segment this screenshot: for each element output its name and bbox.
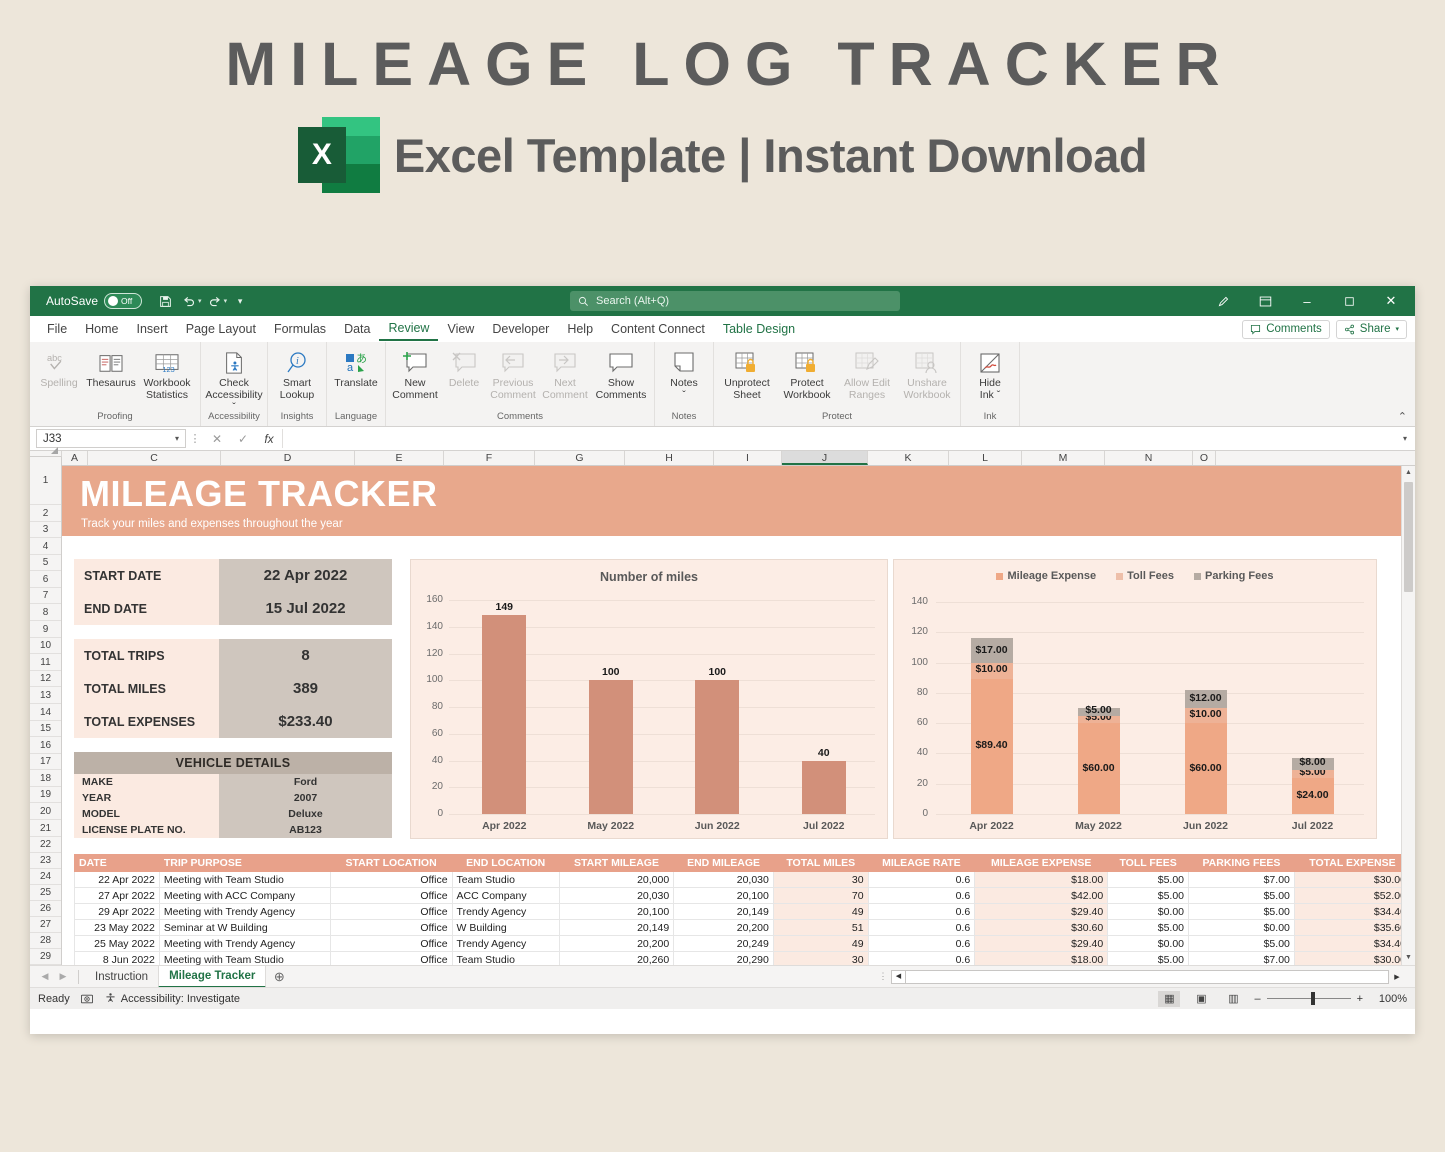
table-row[interactable]: 23 May 2022Seminar at W BuildingOfficeW … bbox=[75, 920, 1411, 936]
table-cell[interactable]: $5.00 bbox=[1108, 872, 1189, 888]
tab-home[interactable]: Home bbox=[76, 319, 127, 340]
accessibility-icon bbox=[104, 992, 117, 1005]
sheet-tab-instruction[interactable]: Instruction bbox=[85, 969, 158, 985]
save-icon[interactable] bbox=[154, 290, 176, 312]
table-cell[interactable]: $29.40 bbox=[975, 936, 1108, 952]
row-header-20[interactable]: 20 bbox=[30, 803, 61, 820]
ribbon-group-proofing: abc Spelling Thesaurus 123 Workbook Stat… bbox=[30, 342, 201, 426]
ribbon-group-comments: New Comment Delete Previous Comment bbox=[386, 342, 655, 426]
row-header-4[interactable]: 4 bbox=[30, 538, 61, 555]
formula-bar: J33 ▾ ⋮ ✕ ✓ fx ▾ bbox=[30, 427, 1415, 451]
table-header-toll-fees[interactable]: TOLL FEES bbox=[1108, 855, 1189, 872]
chart2-datalabel-Jun 2022-mileage-expense: $60.00 bbox=[1176, 762, 1236, 774]
table-cell[interactable]: Meeting with ACC Company bbox=[159, 888, 330, 904]
table-row[interactable]: 8 Jun 2022Meeting with Team StudioOffice… bbox=[75, 952, 1411, 966]
check-accessibility-icon bbox=[222, 348, 246, 378]
scroll-right-arrow[interactable]: ▶ bbox=[1389, 973, 1405, 981]
sheet-tab-bar: ◀ ▶ Instruction Mileage Tracker ⊕ ⋮ ◀ ▶ bbox=[30, 965, 1415, 987]
column-header-O[interactable]: O bbox=[1193, 451, 1216, 465]
table-cell[interactable]: 70 bbox=[773, 888, 868, 904]
vehicle-model-label: MODEL bbox=[74, 806, 219, 822]
allow-edit-ranges-button[interactable]: Allow Edit Ranges bbox=[837, 344, 897, 402]
chart2-xlabel-May 2022: May 2022 bbox=[1054, 820, 1144, 832]
table-cell[interactable]: 20,030 bbox=[674, 872, 774, 888]
next-comment-label-1: Next bbox=[554, 378, 576, 390]
column-header-I[interactable]: I bbox=[714, 451, 782, 465]
table-cell[interactable]: $7.00 bbox=[1189, 952, 1295, 966]
total-expenses-label: TOTAL EXPENSES bbox=[74, 705, 219, 738]
column-headers: ACDEFGHIJKLMNO bbox=[62, 451, 1415, 466]
redo-icon[interactable] bbox=[204, 290, 226, 312]
translate-button[interactable]: aあ Translate bbox=[330, 344, 382, 390]
table-cell[interactable]: 20,149 bbox=[674, 904, 774, 920]
table-cell[interactable]: 27 Apr 2022 bbox=[75, 888, 160, 904]
table-row[interactable]: 25 May 2022Meeting with Trendy AgencyOff… bbox=[75, 936, 1411, 952]
table-cell[interactable]: $52.00 bbox=[1294, 888, 1410, 904]
table-cell[interactable]: Team Studio bbox=[452, 872, 559, 888]
table-cell[interactable]: $30.60 bbox=[975, 920, 1108, 936]
table-cell[interactable]: 20,149 bbox=[559, 920, 673, 936]
table-header-end-location[interactable]: END LOCATION bbox=[452, 855, 559, 872]
table-cell[interactable]: Meeting with Trendy Agency bbox=[159, 904, 330, 920]
tab-insert[interactable]: Insert bbox=[128, 319, 177, 340]
total-trips-value: 8 bbox=[219, 639, 392, 672]
confirm-entry-button[interactable]: ✓ bbox=[230, 432, 256, 446]
table-header-total-miles[interactable]: TOTAL MILES bbox=[773, 855, 868, 872]
row-header-15[interactable]: 15 bbox=[30, 721, 61, 737]
chart1-bar-May 2022[interactable] bbox=[589, 680, 633, 814]
check-accessibility-label-2: Accessibility ˇ bbox=[204, 390, 264, 414]
row-header-22[interactable]: 22 bbox=[30, 837, 61, 853]
table-cell[interactable]: $29.40 bbox=[975, 904, 1108, 920]
next-comment-icon bbox=[551, 348, 579, 378]
undo-icon[interactable] bbox=[178, 290, 200, 312]
table-cell[interactable]: 25 May 2022 bbox=[75, 936, 160, 952]
autosave-label: AutoSave bbox=[46, 294, 98, 308]
group-label-protect: Protect bbox=[717, 411, 957, 422]
ribbon-group-ink: Hide Ink ˇ Ink bbox=[961, 342, 1020, 426]
table-cell[interactable]: 20,100 bbox=[559, 904, 673, 920]
autosave-toggle[interactable]: AutoSave Off bbox=[46, 293, 142, 309]
row-header-1[interactable]: 1 bbox=[30, 457, 61, 505]
group-label-accessibility: Accessibility bbox=[204, 411, 264, 422]
row-header-27[interactable]: 27 bbox=[30, 917, 61, 933]
tab-help[interactable]: Help bbox=[558, 319, 602, 340]
chart2-ytick-40: 40 bbox=[902, 747, 928, 758]
vehicle-make-value[interactable]: Ford bbox=[219, 774, 392, 790]
check-accessibility-label-1: Check bbox=[219, 378, 249, 390]
previous-comment-button[interactable]: Previous Comment bbox=[487, 344, 539, 402]
table-cell[interactable]: Meeting with Team Studio bbox=[159, 952, 330, 966]
table-cell[interactable]: 20,030 bbox=[559, 888, 673, 904]
allow-edit-ranges-label-1: Allow Edit bbox=[844, 378, 890, 390]
select-all-corner[interactable] bbox=[30, 451, 62, 457]
cancel-entry-button[interactable]: ✕ bbox=[204, 432, 230, 446]
autosave-switch[interactable]: Off bbox=[104, 293, 142, 309]
share-button[interactable]: Share ▾ bbox=[1336, 320, 1407, 339]
promo-header: MILEAGE LOG TRACKER X Excel Template | I… bbox=[0, 0, 1445, 193]
search-box[interactable]: Search (Alt+Q) bbox=[570, 291, 900, 311]
chart1-ytick-60: 60 bbox=[417, 728, 443, 739]
scrollbar-split-handle[interactable]: ⋮ bbox=[875, 971, 891, 982]
table-cell[interactable]: $35.60 bbox=[1294, 920, 1410, 936]
sheet-banner-subtitle: Track your miles and expenses throughout… bbox=[62, 514, 1415, 530]
horizontal-scroll-track[interactable]: ◀ bbox=[891, 970, 1389, 984]
workbook-statistics-button[interactable]: 123 Workbook Statistics bbox=[137, 344, 197, 402]
row-header-25[interactable]: 25 bbox=[30, 885, 61, 901]
group-label-proofing: Proofing bbox=[33, 411, 197, 422]
chart1-datalabel-Jul 2022: 40 bbox=[799, 747, 849, 759]
column-header-M[interactable]: M bbox=[1022, 451, 1105, 465]
row-header-10[interactable]: 10 bbox=[30, 638, 61, 654]
name-box-value: J33 bbox=[43, 433, 62, 445]
sheet-tab-mileage-tracker[interactable]: Mileage Tracker bbox=[158, 966, 266, 988]
table-row[interactable]: 27 Apr 2022Meeting with ACC CompanyOffic… bbox=[75, 888, 1411, 904]
tab-developer[interactable]: Developer bbox=[483, 319, 558, 340]
table-row[interactable]: 29 Apr 2022Meeting with Trendy AgencyOff… bbox=[75, 904, 1411, 920]
hide-ink-label-2[interactable]: Ink ˇ bbox=[980, 390, 1000, 402]
smart-lookup-button[interactable]: i Smart Lookup bbox=[271, 344, 323, 402]
delete-comment-label: Delete bbox=[449, 378, 479, 390]
tab-view[interactable]: View bbox=[438, 319, 483, 340]
promo-title: MILEAGE LOG TRACKER bbox=[0, 34, 1445, 95]
table-cell[interactable]: 20,200 bbox=[674, 920, 774, 936]
table-cell[interactable]: 0.6 bbox=[868, 904, 975, 920]
table-cell[interactable]: $0.00 bbox=[1108, 936, 1189, 952]
table-cell[interactable]: 0.6 bbox=[868, 936, 975, 952]
table-cell[interactable]: 49 bbox=[773, 904, 868, 920]
chart1-bar-Jun 2022[interactable] bbox=[695, 680, 739, 814]
row-header-23[interactable]: 23 bbox=[30, 853, 61, 869]
chart1-ytick-80: 80 bbox=[417, 701, 443, 712]
row-header-28[interactable]: 28 bbox=[30, 933, 61, 949]
table-cell[interactable]: Office bbox=[330, 920, 452, 936]
row-header-14[interactable]: 14 bbox=[30, 704, 61, 721]
table-cell[interactable]: 20,290 bbox=[674, 952, 774, 966]
zoom-in-button[interactable]: + bbox=[1357, 993, 1363, 1005]
protect-workbook-button[interactable]: Protect Workbook bbox=[777, 344, 837, 402]
table-cell[interactable]: $0.00 bbox=[1189, 920, 1295, 936]
column-header-K[interactable]: K bbox=[868, 451, 949, 465]
search-icon bbox=[578, 296, 589, 307]
table-cell[interactable]: 0.6 bbox=[868, 872, 975, 888]
table-header-mileage-expense[interactable]: MILEAGE EXPENSE bbox=[975, 855, 1108, 872]
hide-ink-button[interactable]: Hide Ink ˇ bbox=[964, 344, 1016, 402]
ribbon-group-insights: i Smart Lookup Insights bbox=[268, 342, 327, 426]
mileage-log-table[interactable]: DATETRIP PURPOSESTART LOCATIONEND LOCATI… bbox=[74, 854, 1411, 965]
table-cell[interactable]: 29 Apr 2022 bbox=[75, 904, 160, 920]
chart-expenses-breakdown[interactable]: Mileage Expense Toll Fees Parking Fees 0… bbox=[893, 559, 1377, 839]
chart2-xlabel-Apr 2022: Apr 2022 bbox=[947, 820, 1037, 832]
delete-comment-button[interactable]: Delete bbox=[441, 344, 487, 390]
table-cell[interactable]: Office bbox=[330, 872, 452, 888]
previous-sheet-arrow[interactable]: ◀ bbox=[36, 971, 54, 982]
table-cell[interactable]: 20,000 bbox=[559, 872, 673, 888]
group-label-ink: Ink bbox=[964, 411, 1016, 422]
table-header-trip-purpose[interactable]: TRIP PURPOSE bbox=[159, 855, 330, 872]
table-cell[interactable]: Seminar at W Building bbox=[159, 920, 330, 936]
table-cell[interactable]: 20,200 bbox=[559, 936, 673, 952]
protect-workbook-label-1: Protect bbox=[790, 378, 823, 390]
column-header-G[interactable]: G bbox=[535, 451, 625, 465]
table-cell[interactable]: $30.00 bbox=[1294, 872, 1410, 888]
normal-view-button[interactable]: ▦ bbox=[1158, 991, 1180, 1007]
minimize-button[interactable]: – bbox=[1287, 287, 1327, 315]
table-cell[interactable]: Meeting with Trendy Agency bbox=[159, 936, 330, 952]
tab-file[interactable]: File bbox=[38, 319, 76, 340]
table-cell[interactable]: 0.6 bbox=[868, 888, 975, 904]
undo-dropdown-caret[interactable]: ▾ bbox=[198, 297, 202, 305]
collapse-ribbon-button[interactable]: ⌃ bbox=[1398, 410, 1407, 423]
protect-workbook-label-2: Workbook bbox=[783, 390, 830, 402]
column-header-D[interactable]: D bbox=[221, 451, 355, 465]
table-cell[interactable]: 20,260 bbox=[559, 952, 673, 966]
table-header-start-location[interactable]: START LOCATION bbox=[330, 855, 452, 872]
zoom-level-label[interactable]: 100% bbox=[1373, 993, 1407, 1005]
table-cell[interactable]: Office bbox=[330, 952, 452, 966]
chart2-plot: 020406080100120140$89.40$10.00$17.00Apr … bbox=[894, 560, 1376, 838]
chart2-ytick-100: 100 bbox=[902, 657, 928, 668]
group-label-notes: Notes bbox=[658, 411, 710, 422]
table-header-parking-fees[interactable]: PARKING FEES bbox=[1189, 855, 1295, 872]
table-cell[interactable]: $18.00 bbox=[975, 872, 1108, 888]
notes-button[interactable]: Notes ˇ bbox=[658, 344, 710, 402]
vertical-scrollbar[interactable]: ▲ ▼ bbox=[1401, 466, 1415, 965]
row-header-12[interactable]: 12 bbox=[30, 671, 61, 687]
excel-logo-icon: X bbox=[298, 117, 380, 193]
table-cell[interactable]: W Building bbox=[452, 920, 559, 936]
table-cell[interactable]: 20,100 bbox=[674, 888, 774, 904]
table-cell[interactable]: 49 bbox=[773, 936, 868, 952]
row-header-16[interactable]: 16 bbox=[30, 737, 61, 754]
horizontal-scrollbar[interactable]: ⋮ ◀ ▶ bbox=[875, 970, 1405, 984]
row-header-5[interactable]: 5 bbox=[30, 555, 61, 571]
column-header-H[interactable]: H bbox=[625, 451, 714, 465]
chart1-bar-Apr 2022[interactable] bbox=[482, 615, 526, 814]
total-miles-value: 389 bbox=[219, 672, 392, 705]
accessibility-status[interactable]: Accessibility: Investigate bbox=[104, 992, 240, 1005]
row-header-6[interactable]: 6 bbox=[30, 571, 61, 588]
row-header-21[interactable]: 21 bbox=[30, 820, 61, 837]
unshare-workbook-label-1: Unshare bbox=[907, 378, 947, 390]
chart1-xlabel-Jun 2022: Jun 2022 bbox=[672, 820, 762, 832]
tab-page-layout[interactable]: Page Layout bbox=[177, 319, 265, 340]
column-header-L[interactable]: L bbox=[949, 451, 1022, 465]
restore-button[interactable] bbox=[1329, 287, 1369, 315]
pen-icon[interactable] bbox=[1203, 287, 1243, 315]
table-header-end-mileage[interactable]: END MILEAGE bbox=[674, 855, 774, 872]
table-header-start-mileage[interactable]: START MILEAGE bbox=[559, 855, 673, 872]
chart1-bar-Jul 2022[interactable] bbox=[802, 761, 846, 815]
row-header-11[interactable]: 11 bbox=[30, 654, 61, 671]
table-cell[interactable]: $34.40 bbox=[1294, 936, 1410, 952]
table-cell[interactable]: $42.00 bbox=[975, 888, 1108, 904]
customize-quick-access-icon[interactable]: ▾ bbox=[229, 290, 251, 312]
zoom-thumb[interactable] bbox=[1311, 992, 1315, 1005]
row-header-7[interactable]: 7 bbox=[30, 588, 61, 604]
table-cell[interactable]: Meeting with Team Studio bbox=[159, 872, 330, 888]
chart2-xlabel-Jun 2022: Jun 2022 bbox=[1161, 820, 1251, 832]
table-cell[interactable]: 22 Apr 2022 bbox=[75, 872, 160, 888]
promo-subtitle-row: X Excel Template | Instant Download bbox=[0, 117, 1445, 193]
add-sheet-button[interactable]: ⊕ bbox=[266, 969, 292, 985]
table-cell[interactable]: Team Studio bbox=[452, 952, 559, 966]
vehicle-model-value[interactable]: Deluxe bbox=[219, 806, 392, 822]
table-cell[interactable]: $5.00 bbox=[1189, 936, 1295, 952]
table-cell[interactable]: $30.00 bbox=[1294, 952, 1410, 966]
hide-ink-icon bbox=[978, 348, 1002, 378]
row-header-26[interactable]: 26 bbox=[30, 901, 61, 917]
show-comments-button[interactable]: Show Comments bbox=[591, 344, 651, 402]
chart-number-of-miles[interactable]: Number of miles 020406080100120140160149… bbox=[410, 559, 888, 839]
tab-review[interactable]: Review bbox=[379, 318, 438, 341]
table-cell[interactable]: 30 bbox=[773, 952, 868, 966]
column-header-C[interactable]: C bbox=[88, 451, 221, 465]
zoom-slider[interactable]: – + bbox=[1254, 993, 1363, 1005]
chart2-ytick-0: 0 bbox=[902, 808, 928, 819]
table-cell[interactable]: $5.00 bbox=[1189, 888, 1295, 904]
table-row[interactable]: 22 Apr 2022Meeting with Team StudioOffic… bbox=[75, 872, 1411, 888]
table-header-total-expense[interactable]: TOTAL EXPENSE bbox=[1294, 855, 1410, 872]
chart2-datalabel-May 2022-parking-fees: $5.00 bbox=[1069, 704, 1129, 716]
table-cell[interactable]: $5.00 bbox=[1108, 952, 1189, 966]
row-header-3[interactable]: 3 bbox=[30, 522, 61, 538]
cell-grid[interactable]: MILEAGE TRACKER Track your miles and exp… bbox=[62, 466, 1415, 965]
next-comment-button[interactable]: Next Comment bbox=[539, 344, 591, 402]
comments-button-label: Comments bbox=[1266, 323, 1322, 335]
chart1-plot: 020406080100120140160149Apr 2022100May 2… bbox=[411, 560, 887, 838]
table-cell[interactable]: 23 May 2022 bbox=[75, 920, 160, 936]
new-comment-label-2: Comment bbox=[392, 390, 438, 402]
row-header-17[interactable]: 17 bbox=[30, 754, 61, 770]
table-cell[interactable]: 8 Jun 2022 bbox=[75, 952, 160, 966]
table-cell[interactable]: $18.00 bbox=[975, 952, 1108, 966]
expand-formula-bar-button[interactable]: ▾ bbox=[1397, 434, 1413, 443]
table-cell[interactable]: 20,249 bbox=[674, 936, 774, 952]
row-header-9[interactable]: 9 bbox=[30, 621, 61, 638]
table-cell[interactable]: 0.6 bbox=[868, 952, 975, 966]
workbook-statistics-label-2: Statistics bbox=[146, 390, 188, 402]
ribbon-display-options-icon[interactable] bbox=[1245, 287, 1285, 315]
thesaurus-button[interactable]: Thesaurus bbox=[85, 344, 137, 390]
row-header-29[interactable]: 29 bbox=[30, 949, 61, 965]
row-header-24[interactable]: 24 bbox=[30, 869, 61, 885]
notes-label-1: Notes bbox=[670, 378, 697, 390]
close-button[interactable]: ✕ bbox=[1371, 287, 1411, 315]
formula-input[interactable] bbox=[282, 429, 1397, 448]
table-cell[interactable]: $5.00 bbox=[1108, 888, 1189, 904]
svg-text:i: i bbox=[296, 356, 299, 367]
insert-function-button[interactable]: fx bbox=[256, 432, 282, 446]
table-cell[interactable]: $5.00 bbox=[1189, 904, 1295, 920]
row-header-13[interactable]: 13 bbox=[30, 687, 61, 704]
row-header-18[interactable]: 18 bbox=[30, 770, 61, 787]
hide-ink-label-1: Hide bbox=[979, 378, 1001, 390]
column-header-E[interactable]: E bbox=[355, 451, 444, 465]
show-comments-icon bbox=[607, 348, 635, 378]
table-header-date[interactable]: DATE bbox=[75, 855, 160, 872]
column-header-F[interactable]: F bbox=[444, 451, 535, 465]
total-expenses-value: $233.40 bbox=[219, 705, 392, 738]
scroll-up-arrow[interactable]: ▲ bbox=[1402, 466, 1415, 480]
table-cell[interactable]: $34.40 bbox=[1294, 904, 1410, 920]
next-sheet-arrow[interactable]: ▶ bbox=[54, 971, 72, 982]
table-cell[interactable]: Office bbox=[330, 888, 452, 904]
column-header-J[interactable]: J bbox=[782, 451, 868, 465]
unprotect-sheet-label-1: Unprotect bbox=[724, 378, 770, 390]
unshare-workbook-button[interactable]: Unshare Workbook bbox=[897, 344, 957, 402]
chart1-ytick-40: 40 bbox=[417, 755, 443, 766]
table-cell[interactable]: Office bbox=[330, 936, 452, 952]
autosave-state: Off bbox=[121, 296, 132, 306]
notes-caret-icon[interactable]: ˇ bbox=[682, 390, 686, 402]
vehicle-plate-value[interactable]: AB123 bbox=[219, 822, 392, 838]
scroll-left-arrow[interactable]: ◀ bbox=[892, 971, 906, 983]
chart1-ytick-0: 0 bbox=[417, 808, 443, 819]
end-date-label: END DATE bbox=[74, 592, 219, 625]
table-cell[interactable]: $7.00 bbox=[1189, 872, 1295, 888]
redo-dropdown-caret[interactable]: ▾ bbox=[224, 297, 228, 305]
comments-button[interactable]: Comments bbox=[1242, 320, 1330, 339]
page-break-view-button[interactable]: ▥ bbox=[1222, 991, 1244, 1007]
vehicle-year-value[interactable]: 2007 bbox=[219, 790, 392, 806]
tab-table-design[interactable]: Table Design bbox=[714, 319, 804, 340]
share-caret-icon[interactable]: ▾ bbox=[1395, 325, 1399, 333]
column-header-N[interactable]: N bbox=[1105, 451, 1193, 465]
table-cell[interactable]: ACC Company bbox=[452, 888, 559, 904]
row-header-8[interactable]: 8 bbox=[30, 604, 61, 621]
vertical-scroll-thumb[interactable] bbox=[1404, 482, 1413, 592]
table-cell[interactable]: $0.00 bbox=[1108, 904, 1189, 920]
column-header-A[interactable]: A bbox=[62, 451, 88, 465]
name-box-caret-icon[interactable]: ▾ bbox=[175, 434, 179, 443]
new-comment-button[interactable]: New Comment bbox=[389, 344, 441, 402]
row-header-2[interactable]: 2 bbox=[30, 505, 61, 522]
zoom-track[interactable] bbox=[1267, 998, 1351, 999]
check-accessibility-button[interactable]: Check Accessibility ˇ bbox=[204, 344, 264, 413]
end-date-value[interactable]: 15 Jul 2022 bbox=[219, 592, 392, 625]
tab-content-connect[interactable]: Content Connect bbox=[602, 319, 714, 340]
table-cell[interactable]: 0.6 bbox=[868, 920, 975, 936]
ribbon-tab-right-area: Comments Share ▾ bbox=[1242, 320, 1407, 339]
row-header-19[interactable]: 19 bbox=[30, 787, 61, 803]
table-cell[interactable]: Trendy Agency bbox=[452, 936, 559, 952]
table-cell[interactable]: Trendy Agency bbox=[452, 904, 559, 920]
record-macro-icon[interactable] bbox=[80, 993, 94, 1005]
scroll-down-arrow[interactable]: ▼ bbox=[1402, 951, 1415, 965]
formula-bar-handle[interactable]: ⋮ bbox=[186, 432, 204, 445]
tab-data[interactable]: Data bbox=[335, 319, 379, 340]
table-cell[interactable]: 30 bbox=[773, 872, 868, 888]
tab-formulas[interactable]: Formulas bbox=[265, 319, 335, 340]
table-cell[interactable]: Office bbox=[330, 904, 452, 920]
workbook-statistics-icon: 123 bbox=[154, 348, 180, 378]
name-box[interactable]: J33 ▾ bbox=[36, 429, 186, 448]
spelling-button[interactable]: abc Spelling bbox=[33, 344, 85, 390]
smart-lookup-label-1: Smart bbox=[283, 378, 311, 390]
sheet-banner: MILEAGE TRACKER Track your miles and exp… bbox=[62, 466, 1415, 536]
table-header-row: DATETRIP PURPOSESTART LOCATIONEND LOCATI… bbox=[75, 855, 1411, 872]
table-cell[interactable]: $5.00 bbox=[1108, 920, 1189, 936]
page-layout-view-button[interactable]: ▣ bbox=[1190, 991, 1212, 1007]
total-miles-label: TOTAL MILES bbox=[74, 672, 219, 705]
start-date-value[interactable]: 22 Apr 2022 bbox=[219, 559, 392, 592]
zoom-out-button[interactable]: – bbox=[1254, 993, 1260, 1005]
table-header-mileage-rate[interactable]: MILEAGE RATE bbox=[868, 855, 975, 872]
previous-comment-label-1: Previous bbox=[493, 378, 534, 390]
unprotect-sheet-button[interactable]: Unprotect Sheet bbox=[717, 344, 777, 402]
table-cell[interactable]: 51 bbox=[773, 920, 868, 936]
